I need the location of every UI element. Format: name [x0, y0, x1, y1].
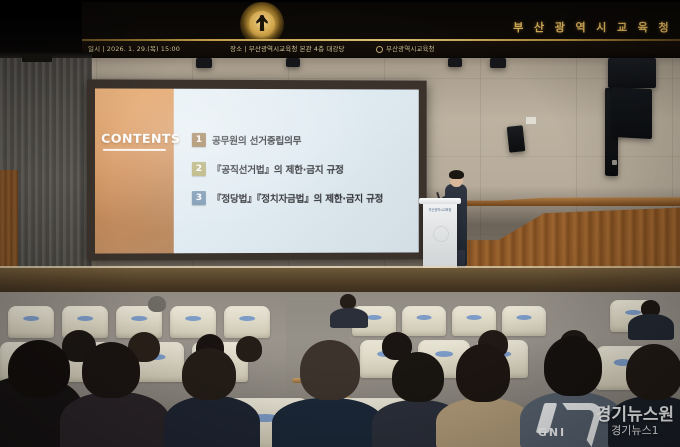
attendee-shoulders — [330, 308, 368, 328]
attendee-head — [456, 344, 510, 402]
seat — [502, 306, 546, 336]
banner-organizer: 부산광역시교육청 — [376, 43, 435, 53]
attendee-head — [340, 294, 356, 309]
slide-item-number: 2 — [192, 162, 206, 176]
projection-screen-frame: CONTENTS 1 공무원의 선거중립의무 2 『공직선거법』의 제한·금지 … — [87, 79, 427, 260]
wall-speaker-small-icon — [507, 125, 526, 153]
seat-logo-icon — [23, 316, 39, 321]
attendee-head — [182, 348, 236, 400]
banner-place: 장소 | 부산광역시교육청 본관 4층 대강당 — [230, 43, 345, 53]
slide-item-label: 『공직선거법』의 제한·금지 규정 — [212, 162, 344, 176]
seat-logo-icon — [77, 316, 93, 321]
slide-section-underline — [103, 149, 166, 151]
ceiling-speaker-4-icon — [490, 58, 506, 68]
seat-logo-icon — [131, 316, 147, 321]
projection-screen: CONTENTS 1 공무원의 선거중립의무 2 『공직선거법』의 제한·금지 … — [95, 88, 419, 253]
attendee-head — [300, 340, 360, 400]
banner-title: 부 산 광 역 시 교 육 청 — [513, 19, 672, 35]
curtain-motor-box — [22, 54, 52, 62]
attendee-shoulders — [628, 314, 674, 340]
seat — [224, 306, 270, 338]
banner-organizer-label: 부산광역시교육청 — [386, 45, 435, 53]
seat-logo-icon — [517, 315, 532, 320]
seat-logo-icon — [185, 316, 201, 321]
line-array-speaker-bottom-icon — [612, 87, 652, 139]
stage-front-panel — [0, 268, 680, 294]
list-item: 1 공무원의 선거중립의무 — [192, 133, 413, 147]
seat-logo-icon — [435, 351, 453, 357]
attendee-shoulders — [272, 398, 384, 447]
attendee-head — [626, 344, 680, 400]
attendee-shoulders — [608, 396, 680, 447]
attendee-head — [8, 340, 70, 398]
podium-seal-icon — [433, 226, 449, 242]
seat-logo-icon — [239, 316, 255, 321]
slide-body: 1 공무원의 선거중립의무 2 『공직선거법』의 제한·금지 규정 3 『정당법… — [174, 89, 419, 254]
slide-item-number: 3 — [192, 191, 206, 205]
attendee-shoulders — [436, 398, 532, 447]
slide-item-number: 1 — [192, 133, 206, 147]
attendee-shoulders — [60, 392, 170, 447]
line-array-speaker-top-icon — [608, 58, 656, 88]
list-item: 2 『공직선거법』의 제한·금지 규정 — [192, 162, 413, 176]
attendee-head — [544, 336, 602, 396]
attendee-head — [82, 342, 140, 398]
seat — [8, 306, 54, 338]
attendee-head — [236, 336, 262, 362]
attendee-shoulders — [164, 396, 260, 447]
auditorium-photo: 부 산 광 역 시 교 육 청 일시 | 2026. 1. 29.(목) 15:… — [0, 0, 680, 447]
event-banner: 부 산 광 역 시 교 육 청 일시 | 2026. 1. 29.(목) 15:… — [82, 2, 680, 57]
list-item: 3 『정당법』『정치자금법』의 제한·금지 규정 — [192, 191, 413, 205]
seat-logo-icon — [367, 315, 382, 320]
podium-top-surface — [419, 198, 461, 204]
seat — [402, 306, 446, 336]
seat-logo-icon — [625, 310, 641, 315]
slide-section-label: CONTENTS — [101, 131, 170, 146]
presenter-hair — [449, 170, 464, 179]
organizer-bullet-icon — [376, 46, 383, 53]
slide-item-label: 공무원의 선거중립의무 — [212, 133, 301, 147]
wall-outlet-plate — [525, 116, 537, 125]
podium-nameplate: 부산광역시교육청 — [425, 207, 455, 212]
slide-contents-list: 1 공무원의 선거중립의무 2 『공직선거법』의 제한·금지 규정 3 『정당법… — [192, 133, 413, 220]
seat-logo-icon — [417, 315, 432, 320]
slide-section-panel: CONTENTS — [95, 88, 174, 253]
ceiling-speaker-1-icon — [196, 58, 212, 68]
seat-logo-icon — [467, 315, 482, 320]
ceiling-speaker-2-icon — [286, 58, 300, 67]
wall-fixture — [612, 160, 617, 165]
attendee-head — [148, 296, 166, 312]
slide-item-label: 『정당법』『정치자금법』의 제한·금지 규정 — [212, 191, 383, 205]
ceiling-speaker-3-icon — [448, 58, 462, 67]
attendee-head — [392, 352, 444, 402]
banner-date: 일시 | 2026. 1. 29.(목) 15:00 — [88, 43, 180, 53]
